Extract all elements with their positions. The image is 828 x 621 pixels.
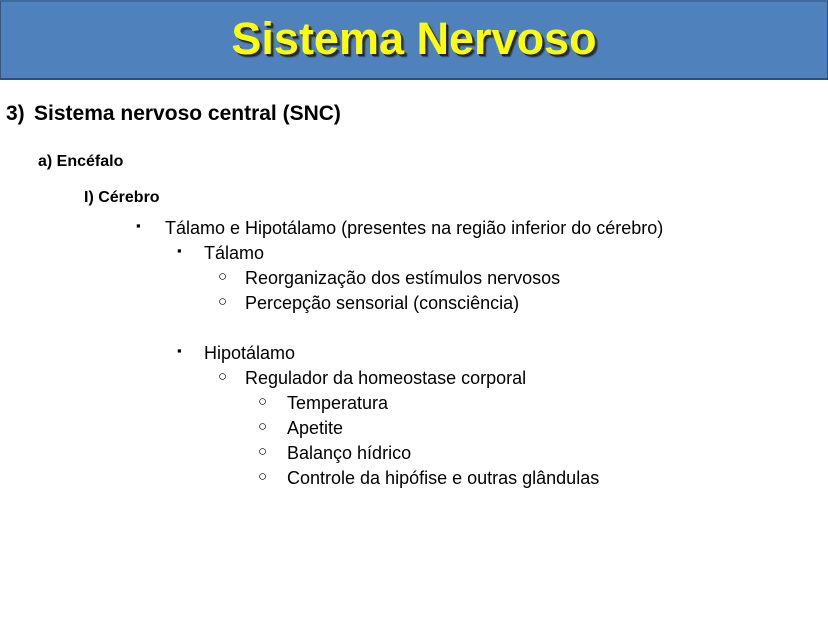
bullet-text: Regulador da homeostase corporal xyxy=(245,368,526,389)
bullet-row: ▪ Hipotálamo xyxy=(0,343,828,367)
circle-bullet-icon: ○ xyxy=(218,368,227,385)
bullet-text: Reorganização dos estímulos nervosos xyxy=(245,268,560,289)
outline-section-heading: 3)Sistema nervoso central (SNC) xyxy=(6,102,341,126)
bullet-row: ○ Regulador da homeostase corporal xyxy=(0,368,828,392)
bullet-text: Tálamo e Hipotálamo (presentes na região… xyxy=(165,218,663,239)
square-bullet-icon: ▪ xyxy=(177,343,182,358)
outline-subsubsection-heading: I) Cérebro xyxy=(84,189,160,207)
circle-bullet-icon: ○ xyxy=(218,293,227,310)
bullet-row: ▪ Tálamo e Hipotálamo (presentes na regi… xyxy=(0,218,828,242)
bullet-row: ▪ Tálamo xyxy=(0,243,828,267)
bullet-text: Percepção sensorial (consciência) xyxy=(245,293,519,314)
circle-bullet-icon: ○ xyxy=(258,468,267,485)
bullet-text: Hipotálamo xyxy=(204,343,295,364)
circle-bullet-icon: ○ xyxy=(258,443,267,460)
bullet-text: Temperatura xyxy=(287,393,388,414)
bullet-row: ○ Apetite xyxy=(0,418,828,442)
outline-subsection-heading: a) Encéfalo xyxy=(38,153,123,171)
circle-bullet-icon: ○ xyxy=(258,393,267,410)
bullet-row: ○ Balanço hídrico xyxy=(0,443,828,467)
bullet-row: ○ Reorganização dos estímulos nervosos xyxy=(0,268,828,292)
bullet-text: Balanço hídrico xyxy=(287,443,411,464)
bullet-row: ○ Controle da hipófise e outras glândula… xyxy=(0,468,828,492)
bullet-text: Tálamo xyxy=(204,243,264,264)
section-marker: 3) xyxy=(6,102,34,126)
section-label: Sistema nervoso central (SNC) xyxy=(34,102,341,125)
slide-body: 3)Sistema nervoso central (SNC) a) Encéf… xyxy=(0,80,828,621)
slide-title-banner: Sistema Nervoso xyxy=(0,0,828,80)
bullet-text: Apetite xyxy=(287,418,343,439)
square-bullet-icon: ▪ xyxy=(177,243,182,258)
slide-title: Sistema Nervoso xyxy=(231,16,596,61)
bullet-row: ○ Temperatura xyxy=(0,393,828,417)
bullet-text: Controle da hipófise e outras glândulas xyxy=(287,468,599,489)
circle-bullet-icon: ○ xyxy=(258,418,267,435)
circle-bullet-icon: ○ xyxy=(218,268,227,285)
bullet-row: ○ Percepção sensorial (consciência) xyxy=(0,293,828,317)
square-bullet-icon: ▪ xyxy=(136,218,141,233)
